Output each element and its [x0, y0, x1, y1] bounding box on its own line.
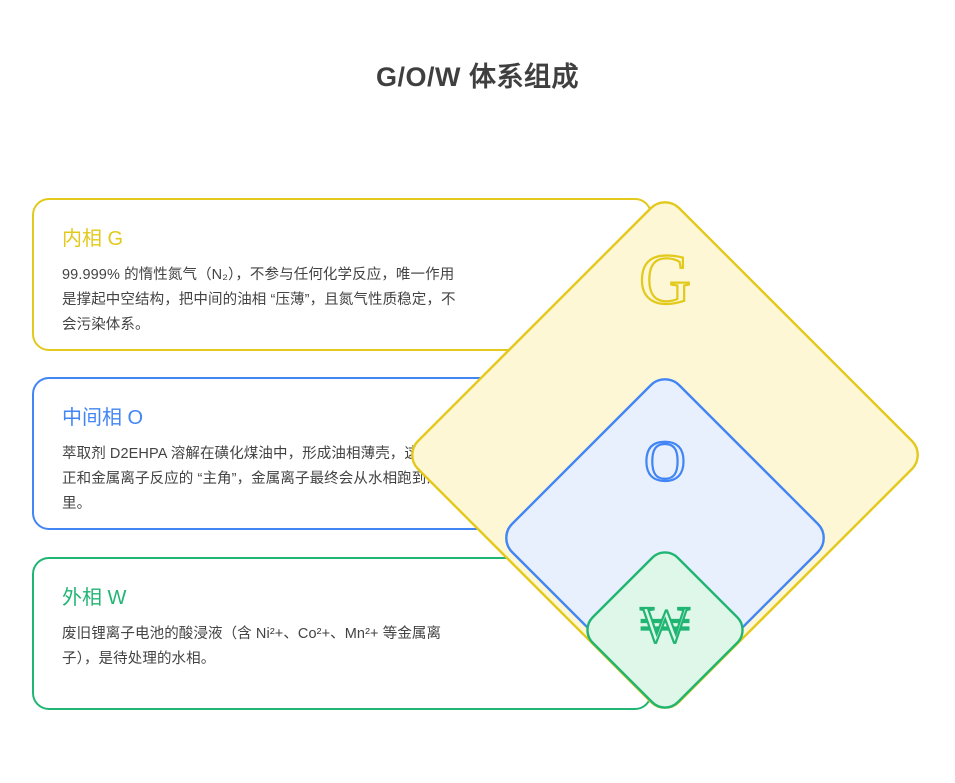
phase-card-water-body: 废旧锂离子电池的酸浸液（含 Ni²+、Co²+、Mn²+ 等金属离子），是待处理… — [62, 622, 462, 672]
phase-card-gas-body: 99.999% 的惰性氮气（N₂），不参与任何化学反应，唯一作用是撑起中空结构，… — [62, 263, 462, 338]
poster-canvas: G/O/W 体系组成 内相 G 99.999% 的惰性氮气（N₂），不参与任何化… — [0, 0, 955, 783]
phase-card-water-heading: 外相 W — [62, 585, 650, 611]
phase-card-gas-heading: 内相 G — [62, 226, 650, 252]
phase-card-list: 内相 G 99.999% 的惰性氮气（N₂），不参与任何化学反应，唯一作用是撑起… — [0, 0, 955, 783]
phase-card-water[interactable]: 外相 W 废旧锂离子电池的酸浸液（含 Ni²+、Co²+、Mn²+ 等金属离子）… — [32, 557, 652, 710]
phase-card-oil-heading: 中间相 O — [62, 405, 650, 431]
phase-card-oil[interactable]: 中间相 O 萃取剂 D2EHPA 溶解在磺化煤油中，形成油相薄壳，这是真正和金属… — [32, 377, 652, 530]
phase-card-oil-body: 萃取剂 D2EHPA 溶解在磺化煤油中，形成油相薄壳，这是真正和金属离子反应的 … — [62, 442, 462, 517]
phase-card-gas[interactable]: 内相 G 99.999% 的惰性氮气（N₂），不参与任何化学反应，唯一作用是撑起… — [32, 198, 652, 351]
